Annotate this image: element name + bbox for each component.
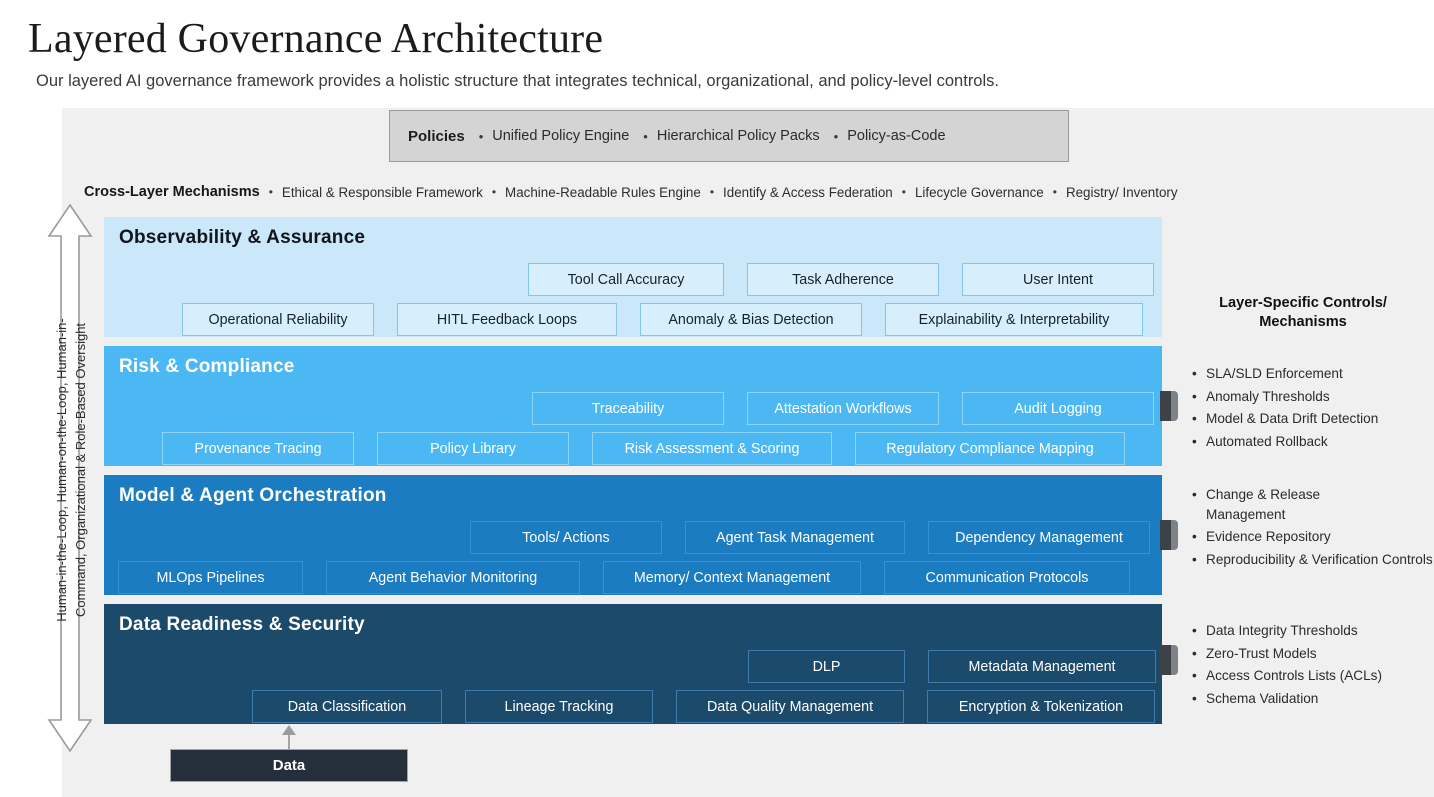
control-item: Anomaly Thresholds (1206, 387, 1434, 407)
node-mlops-pipelines[interactable]: MLOps Pipelines (118, 561, 303, 594)
data-flow-arrow-icon (278, 724, 300, 752)
control-item: Schema Validation (1206, 689, 1434, 709)
bullet-separator-icon: • (483, 185, 505, 199)
cross-layer-item-1[interactable]: Machine-Readable Rules Engine (505, 185, 701, 200)
policies-label: Policies (408, 128, 465, 145)
node-tools-actions[interactable]: Tools/ Actions (470, 521, 662, 554)
controls-group-risk: SLA/SLD Enforcement Anomaly Thresholds M… (1190, 364, 1434, 454)
node-agent-task-management[interactable]: Agent Task Management (685, 521, 905, 554)
layer-risk-title: Risk & Compliance (119, 356, 295, 378)
cross-layer-item-2[interactable]: Identify & Access Federation (723, 185, 893, 200)
bullet-separator-icon: • (260, 185, 282, 199)
oversight-axis-label: Human-in-the-Loop, Human-on-the-Loop, Hu… (52, 200, 90, 740)
node-anomaly-bias-detection[interactable]: Anomaly & Bias Detection (640, 303, 862, 336)
connector-tab-data (1160, 645, 1178, 675)
page-title: Layered Governance Architecture (28, 14, 603, 64)
control-item: Change & Release Management (1206, 485, 1366, 524)
bullet-separator-icon: • (465, 129, 493, 144)
control-item: Model & Data Drift Detection (1206, 409, 1434, 429)
connector-cap (1171, 391, 1178, 421)
layer-observability-title: Observability & Assurance (119, 227, 365, 249)
node-hitl-feedback-loops[interactable]: HITL Feedback Loops (397, 303, 617, 336)
controls-group-model: Change & Release Management Evidence Rep… (1190, 485, 1434, 572)
node-user-intent[interactable]: User Intent (962, 263, 1154, 296)
policies-item-0[interactable]: Unified Policy Engine (492, 128, 629, 144)
node-dlp[interactable]: DLP (748, 650, 905, 683)
control-item: Data Integrity Thresholds (1206, 621, 1434, 641)
connector-tab-risk (1160, 391, 1178, 421)
node-communication-protocols[interactable]: Communication Protocols (884, 561, 1130, 594)
layer-risk-compliance: Risk & Compliance Traceability Attestati… (104, 346, 1162, 466)
connector-cap (1171, 645, 1178, 675)
node-regulatory-compliance-mapping[interactable]: Regulatory Compliance Mapping (855, 432, 1125, 465)
node-lineage-tracking[interactable]: Lineage Tracking (465, 690, 653, 723)
node-task-adherence[interactable]: Task Adherence (747, 263, 939, 296)
node-operational-reliability[interactable]: Operational Reliability (182, 303, 374, 336)
layer-data-title: Data Readiness & Security (119, 614, 365, 636)
cross-layer-item-0[interactable]: Ethical & Responsible Framework (282, 185, 483, 200)
cross-layer-item-4[interactable]: Registry/ Inventory (1066, 185, 1178, 200)
node-memory-context-management[interactable]: Memory/ Context Management (603, 561, 861, 594)
node-policy-library[interactable]: Policy Library (377, 432, 569, 465)
control-item: Evidence Repository (1206, 527, 1434, 547)
node-audit-logging[interactable]: Audit Logging (962, 392, 1154, 425)
node-data-classification[interactable]: Data Classification (252, 690, 442, 723)
oversight-axis-line1: Human-in-the-Loop, Human-on-the-Loop, Hu… (52, 200, 71, 740)
diagram-canvas: Layered Governance Architecture Our laye… (0, 0, 1434, 797)
node-encryption-tokenization[interactable]: Encryption & Tokenization (927, 690, 1155, 723)
layer-data-readiness-security: Data Readiness & Security DLP Metadata M… (104, 604, 1162, 724)
controls-group-data: Data Integrity Thresholds Zero-Trust Mod… (1190, 621, 1434, 711)
policies-item-1[interactable]: Hierarchical Policy Packs (657, 128, 820, 144)
cross-layer-label: Cross-Layer Mechanisms (84, 184, 260, 200)
control-item: Reproducibility & Verification Controls (1206, 550, 1434, 570)
layer-observability: Observability & Assurance Tool Call Accu… (104, 217, 1162, 337)
bullet-separator-icon: • (629, 129, 657, 144)
oversight-axis: Human-in-the-Loop, Human-on-the-Loop, Hu… (46, 203, 94, 753)
node-tool-call-accuracy[interactable]: Tool Call Accuracy (528, 263, 724, 296)
layer-model-agent-orchestration: Model & Agent Orchestration Tools/ Actio… (104, 475, 1162, 595)
connector-tab-model (1160, 520, 1178, 550)
bullet-separator-icon: • (893, 185, 915, 199)
node-dependency-management[interactable]: Dependency Management (928, 521, 1150, 554)
data-source-box[interactable]: Data (170, 749, 408, 782)
node-data-quality-management[interactable]: Data Quality Management (676, 690, 904, 723)
bullet-separator-icon: • (1044, 185, 1066, 199)
controls-heading-line2: Mechanisms (1178, 313, 1428, 332)
node-explainability-interpretability[interactable]: Explainability & Interpretability (885, 303, 1143, 336)
node-risk-assessment-scoring[interactable]: Risk Assessment & Scoring (592, 432, 832, 465)
control-item: SLA/SLD Enforcement (1206, 364, 1434, 384)
policies-item-2[interactable]: Policy-as-Code (847, 128, 945, 144)
node-traceability[interactable]: Traceability (532, 392, 724, 425)
bullet-separator-icon: • (701, 185, 723, 199)
controls-heading-line1: Layer-Specific Controls/ (1178, 294, 1428, 313)
node-provenance-tracing[interactable]: Provenance Tracing (162, 432, 354, 465)
policies-bar: Policies • Unified Policy Engine • Hiera… (389, 110, 1069, 162)
controls-heading: Layer-Specific Controls/ Mechanisms (1178, 294, 1428, 332)
oversight-axis-line2: Command, Organizational & Role-Based Ove… (71, 200, 90, 740)
control-item: Access Controls Lists (ACLs) (1206, 666, 1434, 686)
page-subtitle: Our layered AI governance framework prov… (36, 72, 999, 91)
layer-model-title: Model & Agent Orchestration (119, 485, 387, 507)
connector-cap (1171, 520, 1178, 550)
bullet-separator-icon: • (820, 129, 848, 144)
node-metadata-management[interactable]: Metadata Management (928, 650, 1156, 683)
control-item: Automated Rollback (1206, 432, 1434, 452)
control-item: Zero-Trust Models (1206, 644, 1434, 664)
cross-layer-mechanisms-bar: Cross-Layer Mechanisms • Ethical & Respo… (84, 180, 1414, 204)
node-attestation-workflows[interactable]: Attestation Workflows (747, 392, 939, 425)
node-agent-behavior-monitoring[interactable]: Agent Behavior Monitoring (326, 561, 580, 594)
cross-layer-item-3[interactable]: Lifecycle Governance (915, 185, 1044, 200)
